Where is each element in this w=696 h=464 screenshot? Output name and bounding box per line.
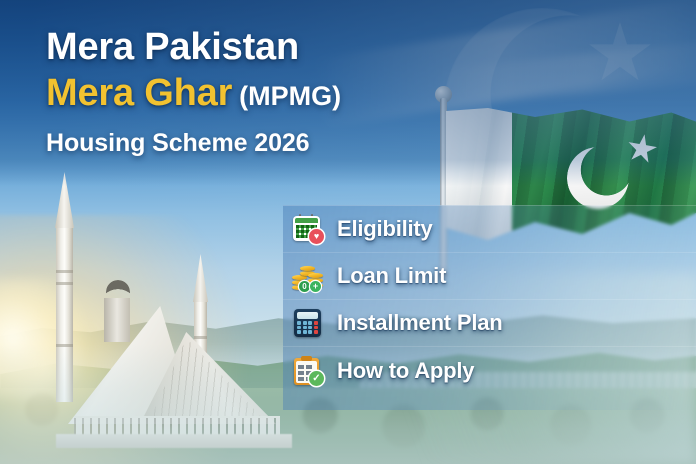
coins-stack-icon: 0 + — [292, 260, 324, 292]
list-item[interactable]: Installment Plan — [283, 300, 696, 347]
list-item[interactable]: ♥ Eligibility — [283, 206, 696, 253]
calendar-heart-icon: ♥ — [292, 213, 324, 245]
check-badge-icon: ✓ — [309, 371, 324, 386]
mosque-pylon — [104, 298, 130, 342]
feature-label: Loan Limit — [337, 263, 446, 289]
list-item[interactable]: ✓ How to Apply — [283, 347, 696, 394]
feature-panel: ♥ Eligibility 0 + Loan Limit — [283, 205, 696, 410]
promo-banner: Mera Pakistan Mera Ghar(MPMG) Housing Sc… — [0, 0, 696, 464]
feature-label: Installment Plan — [337, 310, 503, 336]
title-line-2: Mera Ghar(MPMG) — [46, 74, 466, 114]
title-abbreviation: (MPMG) — [239, 81, 341, 111]
zero-badge-icon: 0 — [299, 281, 310, 292]
feature-label: How to Apply — [337, 358, 474, 384]
title-subtitle: Housing Scheme 2026 — [46, 129, 466, 158]
title-block: Mera Pakistan Mera Ghar(MPMG) Housing Sc… — [46, 28, 466, 158]
title-highlight: Mera Ghar — [46, 72, 232, 114]
title-line-1: Mera Pakistan — [46, 28, 466, 68]
heart-badge-icon: ♥ — [309, 229, 324, 244]
clipboard-check-icon: ✓ — [292, 355, 324, 387]
list-item[interactable]: 0 + Loan Limit — [283, 253, 696, 300]
plus-badge-icon: + — [310, 281, 321, 292]
feature-list: ♥ Eligibility 0 + Loan Limit — [283, 206, 696, 394]
crescent-finial-icon — [106, 280, 130, 304]
calculator-icon — [292, 307, 324, 339]
feature-label: Eligibility — [337, 216, 433, 242]
